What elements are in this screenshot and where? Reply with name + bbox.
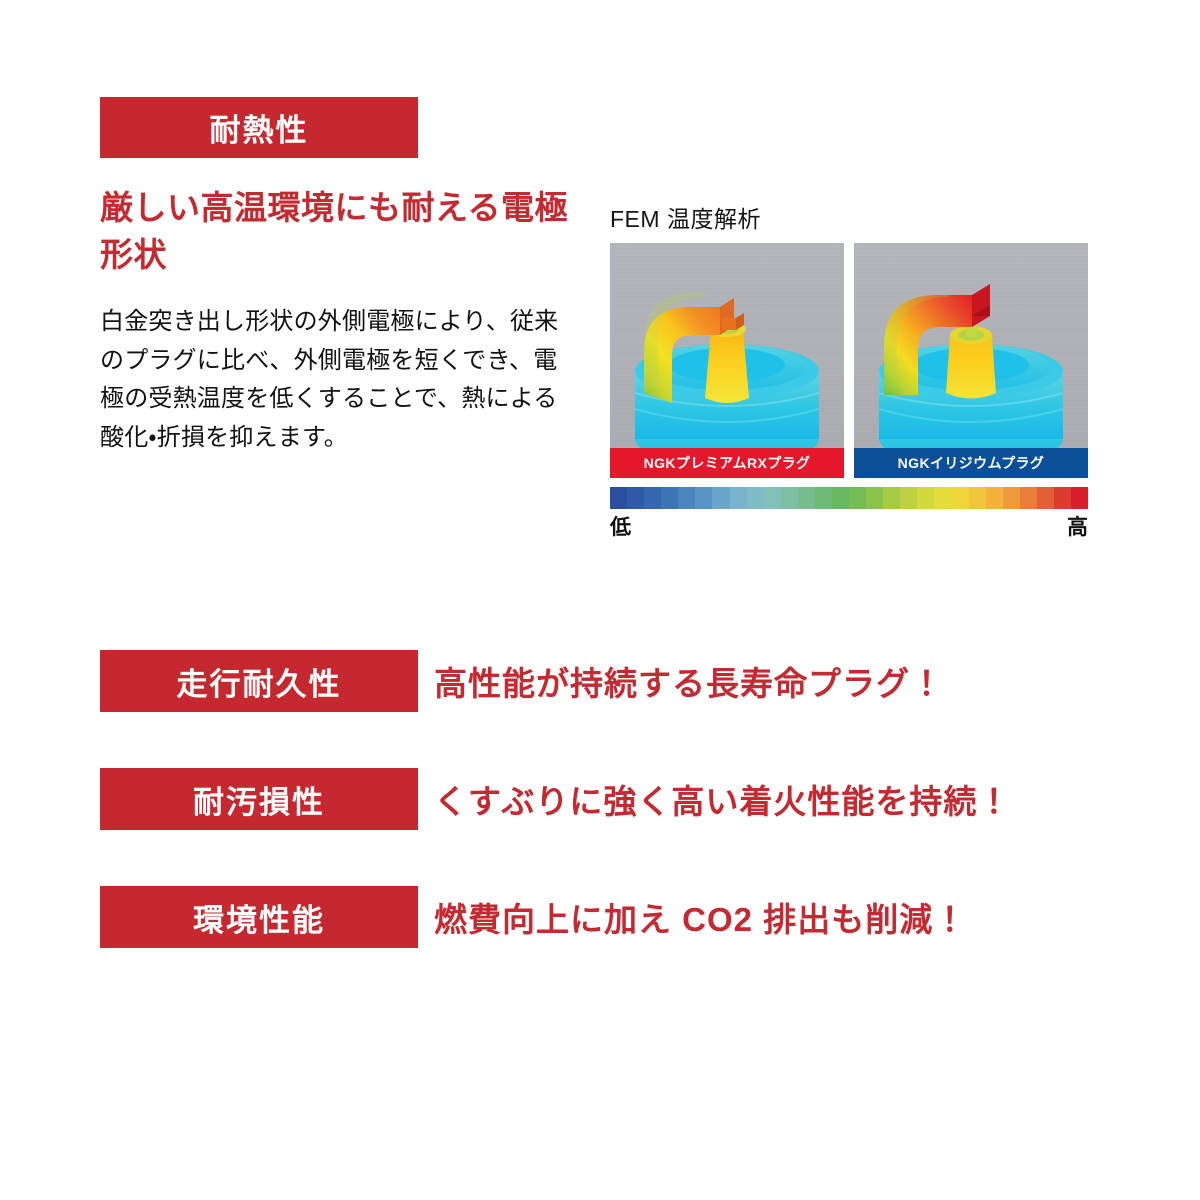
scale-segment-11 [798,487,815,509]
feature-text-fouling-resistance: くすぶりに強く高い着火性能を持続！ [434,775,1011,823]
scale-segment-2 [644,487,661,509]
badge-heat-resistance: 耐熱性 [100,97,418,158]
fem-analysis-section: FEM 温度解析 [610,200,1088,541]
scale-segment-25 [1037,487,1054,509]
fem-card-premium-rx: NGKプレミアムRXプラグ [610,243,844,478]
feature-panel: 耐熱性 厳しい高温環境にも耐える電極形状 白金突き出し形状の外側電極により、従来… [0,0,1200,1200]
scale-segment-27 [1071,487,1088,509]
scale-segment-14 [849,487,866,509]
fem-render-iridium [854,243,1088,448]
temperature-scale-legend: 低 高 [610,511,1088,541]
scale-segment-15 [866,487,883,509]
badge-environmental: 環境性能 [100,886,418,948]
fem-render-premium-rx [610,243,844,448]
scale-segment-20 [952,487,969,509]
scale-segment-4 [678,487,695,509]
scale-segment-7 [730,487,747,509]
scale-segment-19 [934,487,951,509]
scale-segment-22 [986,487,1003,509]
scale-segment-5 [695,487,712,509]
scale-segment-13 [832,487,849,509]
temperature-scale: 低 高 [610,487,1088,541]
scale-segment-24 [1020,487,1037,509]
scale-segment-12 [815,487,832,509]
scale-label-low: 低 [610,511,631,541]
spark-plug-thermal-render-icon [854,243,1088,448]
heat-resistance-title: 厳しい高温環境にも耐える電極形状 [100,185,600,279]
feature-list: 走行耐久性 高性能が持続する長寿命プラグ！ 耐汚損性 くすぶりに強く高い着火性能… [100,650,1100,1004]
feature-text-environmental: 燃費向上に加え CO2 排出も削減！ [434,893,967,941]
heat-resistance-body: 白金突き出し形状の外側電極により、従来のプラグに比べ、外側電極を短くでき、電極の… [100,303,578,459]
fem-card-iridium: NGKイリジウムプラグ [854,243,1088,478]
scale-segment-3 [661,487,678,509]
fem-label-premium-rx: NGKプレミアムRXプラグ [610,448,844,478]
scale-segment-16 [883,487,900,509]
scale-segment-0 [610,487,627,509]
scale-segment-21 [969,487,986,509]
scale-segment-10 [781,487,798,509]
feature-row-durability: 走行耐久性 高性能が持続する長寿命プラグ！ [100,650,1100,712]
scale-label-high: 高 [1067,511,1088,541]
badge-fouling-resistance: 耐汚損性 [100,768,418,830]
scale-segment-9 [764,487,781,509]
fem-caption: FEM 温度解析 [610,200,1088,234]
scale-segment-18 [917,487,934,509]
fem-label-iridium: NGKイリジウムプラグ [854,448,1088,478]
temperature-scale-bar [610,487,1088,509]
feature-text-durability: 高性能が持続する長寿命プラグ！ [434,657,944,705]
badge-durability: 走行耐久性 [100,650,418,712]
feature-row-environmental: 環境性能 燃費向上に加え CO2 排出も削減！ [100,886,1100,948]
heat-resistance-section: 耐熱性 厳しい高温環境にも耐える電極形状 白金突き出し形状の外側電極により、従来… [100,97,600,458]
scale-segment-1 [627,487,644,509]
scale-segment-17 [900,487,917,509]
scale-segment-6 [712,487,729,509]
fem-image-pair: NGKプレミアムRXプラグ [610,243,1088,478]
spark-plug-thermal-render-icon [610,243,844,448]
scale-segment-26 [1054,487,1071,509]
scale-segment-23 [1003,487,1020,509]
scale-segment-8 [747,487,764,509]
feature-row-fouling-resistance: 耐汚損性 くすぶりに強く高い着火性能を持続！ [100,768,1100,830]
